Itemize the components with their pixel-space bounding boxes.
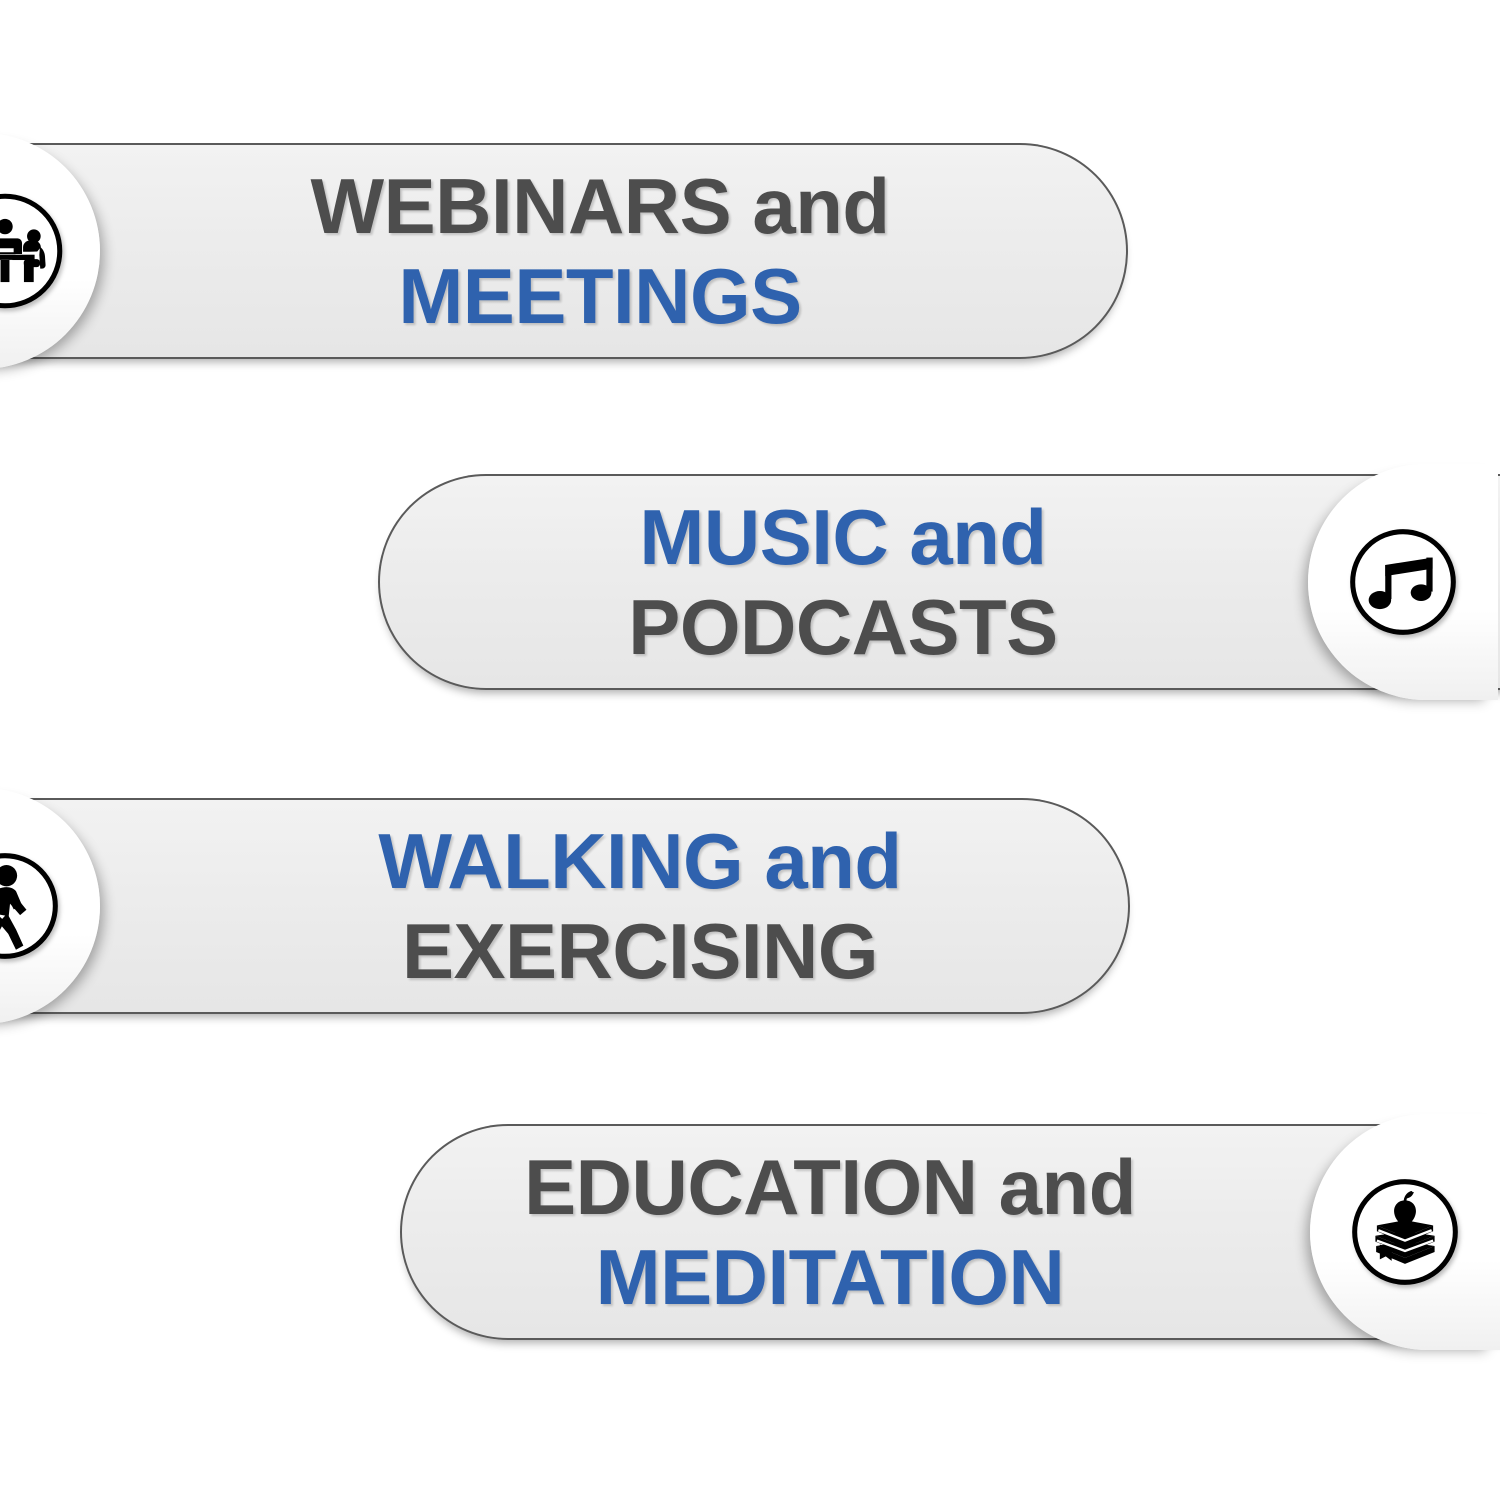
books-apple-icon [1331,1158,1479,1306]
music-note-icon [1329,508,1477,656]
row-label-line1: WEBINARS and [311,167,890,245]
row-label-line1: EDUCATION and [524,1148,1136,1226]
row-label-line1: WALKING and [378,822,901,900]
label-group-walking-and-exercising: WALKING and EXERCISING [280,798,1000,1014]
list-item[interactable]: WEBINARS and MEETINGS [0,143,1128,359]
list-item[interactable]: EDUCATION and MEDITATION [400,1124,1500,1340]
row-label-line1: MUSIC and [639,498,1046,576]
label-group-education-and-meditation: EDUCATION and MEDITATION [435,1124,1225,1340]
walking-person-icon [0,832,79,980]
list-item[interactable]: MUSIC and PODCASTS [378,474,1500,690]
infographic-canvas: WEBINARS and MEETINGS MUSIC and PODC [0,0,1500,1500]
row-label-line2: MEDITATION [596,1238,1065,1316]
meeting-table-icon [0,177,79,325]
label-group-webinars-and-meetings: WEBINARS and MEETINGS [230,143,970,359]
row-label-line2: EXERCISING [402,912,878,990]
row-label-line2: MEETINGS [398,257,801,335]
label-group-music-and-podcasts: MUSIC and PODCASTS [448,474,1238,690]
list-item[interactable]: WALKING and EXERCISING [0,798,1130,1014]
row-label-line2: PODCASTS [628,588,1057,666]
